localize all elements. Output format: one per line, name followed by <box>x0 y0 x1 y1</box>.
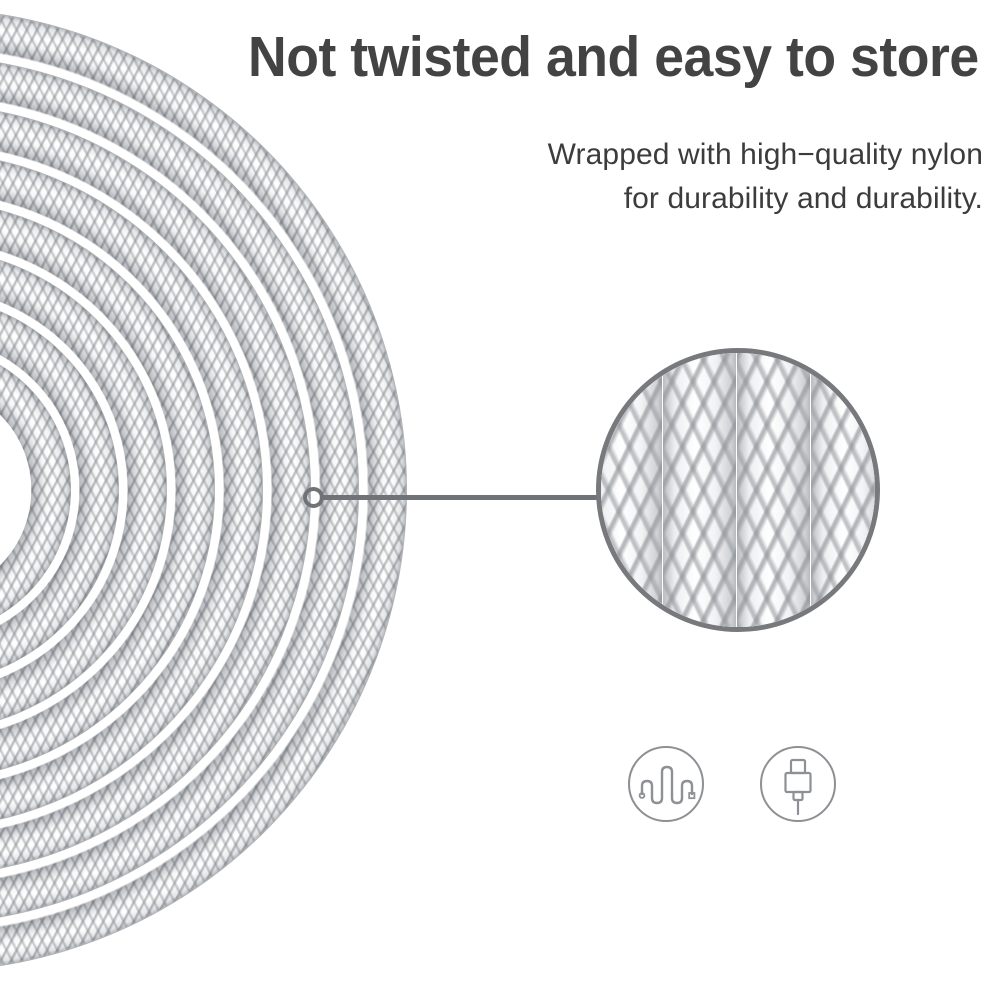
weave-closeup-magnifier <box>596 348 880 632</box>
magnified-cord <box>811 348 880 632</box>
magnified-cord <box>663 348 737 632</box>
weave-closeup-content <box>596 348 880 632</box>
cable-connector-icon <box>760 746 836 822</box>
feature-icon-row <box>620 744 850 830</box>
magnified-cord <box>737 348 811 632</box>
coiled-cable-graphic <box>0 0 410 1000</box>
page-title: Not twisted and easy to store <box>248 24 951 90</box>
page-subtitle: Wrapped with high−quality nylon for dura… <box>363 133 983 221</box>
magnified-cord <box>596 348 663 632</box>
page-subtitle-line-1: Wrapped with high−quality nylon <box>363 133 983 177</box>
callout-leader-line <box>320 495 602 500</box>
bend-test-icon <box>628 746 704 822</box>
page-subtitle-line-2: for durability and durability. <box>363 177 983 221</box>
callout-target-ring <box>303 487 324 508</box>
product-feature-image: Not twisted and easy to store Wrapped wi… <box>0 0 1001 1001</box>
